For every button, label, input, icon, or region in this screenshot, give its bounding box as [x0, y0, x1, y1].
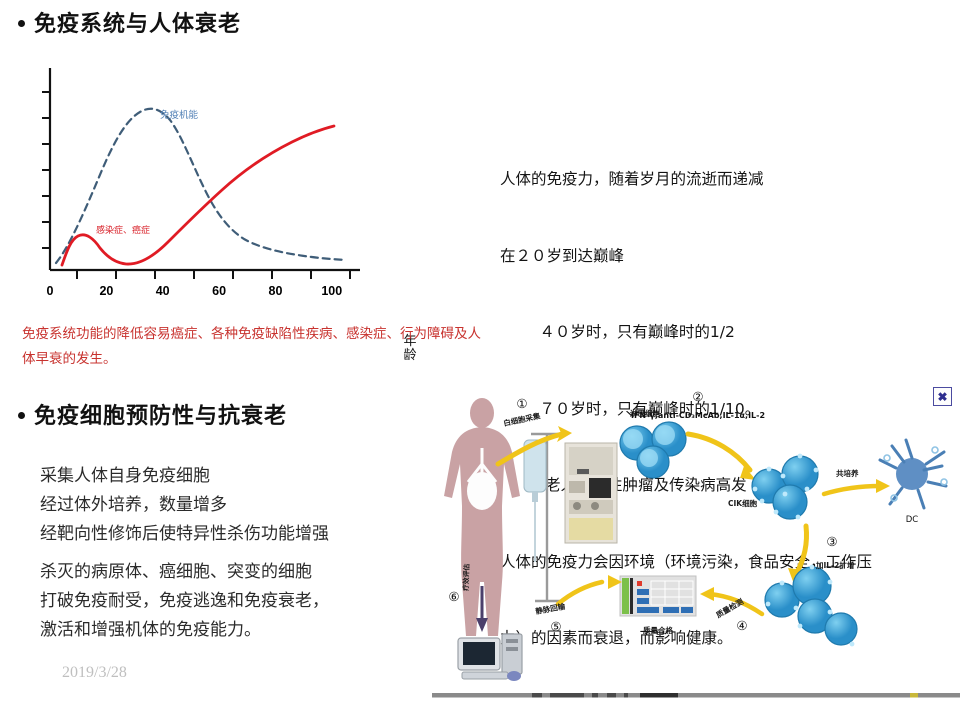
step-1-number: ①	[516, 397, 527, 411]
section2-paragraph-1: 采集人体自身免疫细胞 经过体外培养，数量增多 经靶向性修饰后使特异性杀伤功能增强	[40, 462, 400, 549]
xtick-label: 40	[156, 284, 170, 298]
section1-heading-text: 免疫系统与人体衰老	[34, 6, 241, 38]
paragraph-line: 激活和增强机体的免疫能力。	[40, 616, 400, 645]
paragraph-line: 经靶向性修饰后使特异性杀伤功能增强	[40, 520, 400, 549]
series-infection-cancer	[62, 126, 334, 265]
step-5-number: ⑤	[550, 620, 561, 634]
dc-label: DC	[906, 515, 919, 525]
xtick-label-group: 020406080100	[47, 284, 343, 298]
bottom-bar	[432, 693, 960, 698]
section2-heading: 免疫细胞预防性与抗衰老	[18, 398, 287, 430]
quality-report-card	[620, 576, 696, 616]
xtick-label: 0	[47, 284, 54, 298]
bullet-icon	[18, 412, 25, 419]
step-5-label: 静脉回输	[535, 601, 567, 616]
arrow-step-3	[796, 526, 807, 574]
arrow-step-5	[558, 582, 602, 604]
broken-image-icon[interactable]: ✖	[933, 387, 952, 406]
date-stamp: 2019/3/28	[62, 664, 127, 682]
immunity-aging-chart: 020406080100 免疫机能 感染症、癌症 年龄	[30, 58, 430, 308]
x-axis-ticks	[77, 270, 350, 279]
cik-therapy-workflow-diagram: ① 白细胞采集 淋巴细胞 ② IFN-γ,anti-CD₃McAb,IL-1α,…	[432, 386, 960, 711]
series-immune-function	[56, 109, 346, 263]
computer-workstation	[458, 634, 522, 681]
slide-canvas: 免疫系统与人体衰老	[0, 0, 960, 720]
co-culture-label: 共培养	[836, 468, 859, 478]
section1-red-caption: 免疫系统功能的降低容易癌症、各种免疫缺陷性疾病、感染症、行为障碍及人体早衰的发生…	[22, 322, 492, 372]
step-2-number: ②	[692, 390, 703, 404]
chart-svg: 020406080100 免疫机能 感染症、癌症	[30, 58, 430, 308]
arrow-co-culture	[824, 486, 880, 494]
dc-cell	[880, 440, 947, 508]
step-4-number: ④	[736, 619, 747, 633]
paragraph-line: 打破免疫耐受，免疫逃逸和免疫衰老，	[40, 587, 400, 616]
arrow-step-2	[688, 434, 750, 470]
paragraph-line: 经过体外培养，数量增多	[40, 491, 400, 520]
section1-heading: 免疫系统与人体衰老	[18, 6, 241, 38]
paragraph-line: 杀灭的病原体、癌细胞、突变的细胞	[40, 558, 400, 587]
section2-paragraph-2: 杀灭的病原体、癌细胞、突变的细胞 打破免疫耐受，免疫逃逸和免疫衰老， 激活和增强…	[40, 558, 400, 645]
step-6-label: 疗效评估	[461, 563, 471, 591]
section2-heading-text: 免疫细胞预防性与抗衰老	[34, 398, 287, 430]
right-text-line: ４０岁时，只有巅峰时的1/2	[500, 320, 940, 346]
xtick-label: 80	[269, 284, 283, 298]
series-label-immune-function: 免疫机能	[160, 109, 199, 121]
xtick-label: 100	[321, 284, 342, 298]
expanded-cik-cluster	[765, 565, 857, 647]
apheresis-machine	[565, 443, 617, 543]
bullet-icon	[18, 20, 25, 27]
xtick-label: 60	[212, 284, 226, 298]
iv-apparatus	[524, 434, 563, 601]
series-label-infection-cancer: 感染症、癌症	[96, 224, 150, 236]
cik-cell-cluster	[752, 454, 818, 520]
right-text-line: 在２０岁到达巅峰	[500, 244, 940, 270]
paragraph-line: 采集人体自身免疫细胞	[40, 462, 400, 491]
y-axis-ticks	[42, 92, 50, 248]
step-2-label: IFN-γ,anti-CD₃McAb,IL-1α,IL-2	[631, 411, 765, 420]
lymphocyte-cluster	[620, 422, 686, 478]
diagram-svg: ① 白细胞采集 淋巴细胞 ② IFN-γ,anti-CD₃McAb,IL-1α,…	[432, 386, 960, 711]
step-3-label: 加IL-2扩增	[815, 560, 854, 570]
right-text-line: 人体的免疫力，随着岁月的流逝而递减	[500, 167, 940, 193]
xtick-label: 20	[99, 284, 113, 298]
step-6-number: ⑥	[448, 590, 459, 604]
step-1-label: 白细胞采集	[502, 410, 541, 428]
step-3-number: ③	[826, 535, 837, 549]
quality-pass-label: 质量合格	[643, 625, 673, 635]
cik-cell-label: CIK细胞	[728, 498, 758, 508]
